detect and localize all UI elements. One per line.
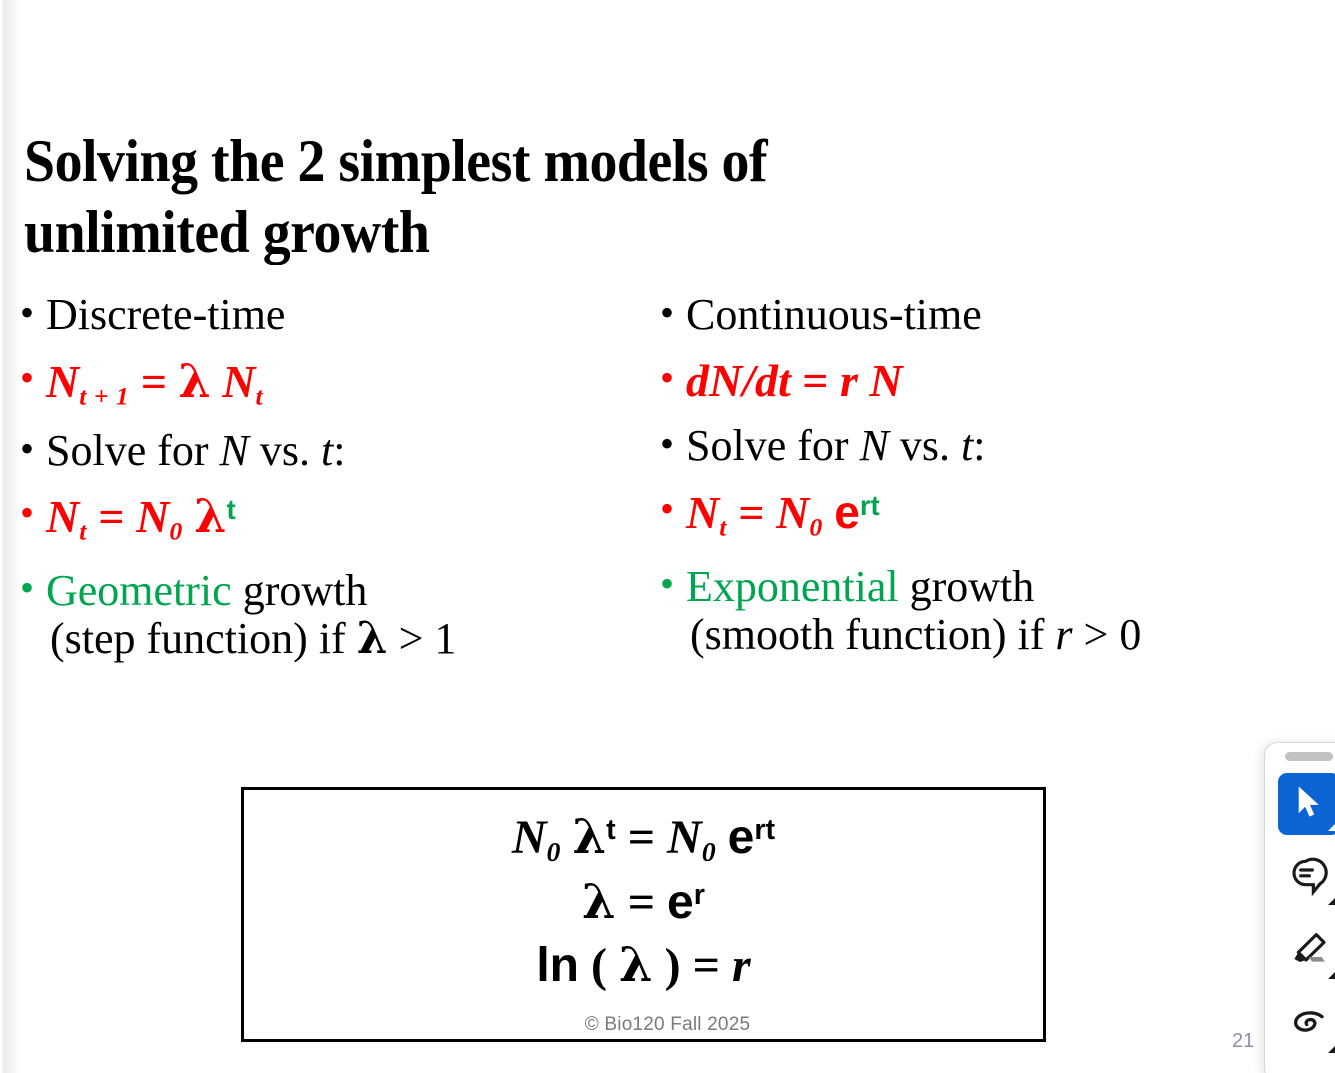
solve-instruction: Solve for N vs. t:	[686, 423, 1335, 470]
bullet-dot-icon: •	[20, 292, 46, 334]
bullet-dot-icon: •	[20, 357, 46, 399]
bullet-dot-icon: •	[660, 488, 686, 530]
bullet-dot-icon: •	[660, 357, 686, 399]
growth-description: Exponential growth (smooth function) if …	[686, 563, 1335, 658]
comment-bubble-icon	[1289, 856, 1329, 901]
page-number: 21	[1232, 1030, 1254, 1053]
comment-tool-button[interactable]	[1278, 847, 1335, 909]
equation-box: N0 λt = N0 ert λ = er ln ( λ ) = r	[241, 787, 1046, 1042]
equation-line-3: ln ( λ ) = r	[536, 934, 750, 997]
equation-line-2: λ = er	[582, 871, 705, 934]
bullet-label: Continuous-time	[686, 292, 1335, 339]
highlighter-pen-icon	[1289, 930, 1329, 975]
bullet-dot-icon: •	[20, 567, 46, 609]
growth-condition: (step function) if λ > 1	[46, 615, 660, 663]
annotation-toolbar	[1264, 742, 1335, 1073]
bullet-dot-icon: •	[660, 292, 686, 334]
bullet-exponential-growth: • Exponential growth (smooth function) i…	[660, 563, 1335, 658]
bullet-solve-left: • Solve for N vs. t:	[20, 428, 660, 475]
bullet-solve-right: • Solve for N vs. t:	[660, 423, 1335, 470]
bullet-discrete-time: • Discrete-time	[20, 292, 660, 339]
left-column: • Discrete-time • Nt + 1 = λ Nt • Solve …	[20, 292, 660, 662]
bullet-dot-icon: •	[20, 428, 46, 470]
solve-instruction: Solve for N vs. t:	[46, 428, 660, 475]
bullet-exponential-solution: • Nt = N0 ert	[660, 488, 1335, 541]
page-title: Solving the 2 simplest models of unlimit…	[24, 126, 1010, 268]
chevron-expand-icon[interactable]	[1328, 1042, 1335, 1053]
bullet-dot-icon: •	[20, 492, 46, 534]
lasso-ink-icon	[1289, 1004, 1329, 1049]
bullet-geometric-growth: • Geometric growth (step function) if λ …	[20, 567, 660, 662]
bullet-discrete-formula: • Nt + 1 = λ Nt	[20, 357, 660, 410]
formula-differential: dN/dt = r N	[686, 357, 1335, 406]
formula-exponential-solution: Nt = N0 ert	[686, 488, 1335, 541]
chevron-expand-icon[interactable]	[1328, 820, 1335, 831]
right-column: • Continuous-time • dN/dt = r N • Solve …	[660, 292, 1335, 658]
highlighter-tool-button[interactable]	[1278, 921, 1335, 983]
page-edge-shadow	[0, 0, 22, 1073]
bullet-label: Discrete-time	[46, 292, 660, 339]
formula-recursion: Nt + 1 = λ Nt	[46, 357, 660, 410]
lasso-ink-tool-button[interactable]	[1278, 995, 1335, 1057]
chevron-expand-icon[interactable]	[1328, 894, 1335, 905]
select-tool-button[interactable]	[1278, 773, 1335, 835]
equation-line-1: N0 λt = N0 ert	[512, 806, 775, 871]
copyright-notice: © Bio120 Fall 2025	[0, 1014, 1335, 1036]
bullet-geometric-solution: • Nt = N0 λt	[20, 492, 660, 545]
bullet-continuous-formula: • dN/dt = r N	[660, 357, 1335, 406]
formula-geometric-solution: Nt = N0 λt	[46, 492, 660, 545]
toolbar-drag-handle[interactable]	[1285, 752, 1333, 761]
slide-canvas: Solving the 2 simplest models of unlimit…	[0, 0, 1335, 1073]
growth-description: Geometric growth (step function) if λ > …	[46, 567, 660, 662]
chevron-expand-icon[interactable]	[1328, 968, 1335, 979]
bullet-continuous-time: • Continuous-time	[660, 292, 1335, 339]
bullet-dot-icon: •	[660, 563, 686, 605]
growth-condition: (smooth function) if r > 0	[686, 611, 1335, 659]
bullet-dot-icon: •	[660, 423, 686, 465]
cursor-arrow-icon	[1290, 783, 1328, 826]
